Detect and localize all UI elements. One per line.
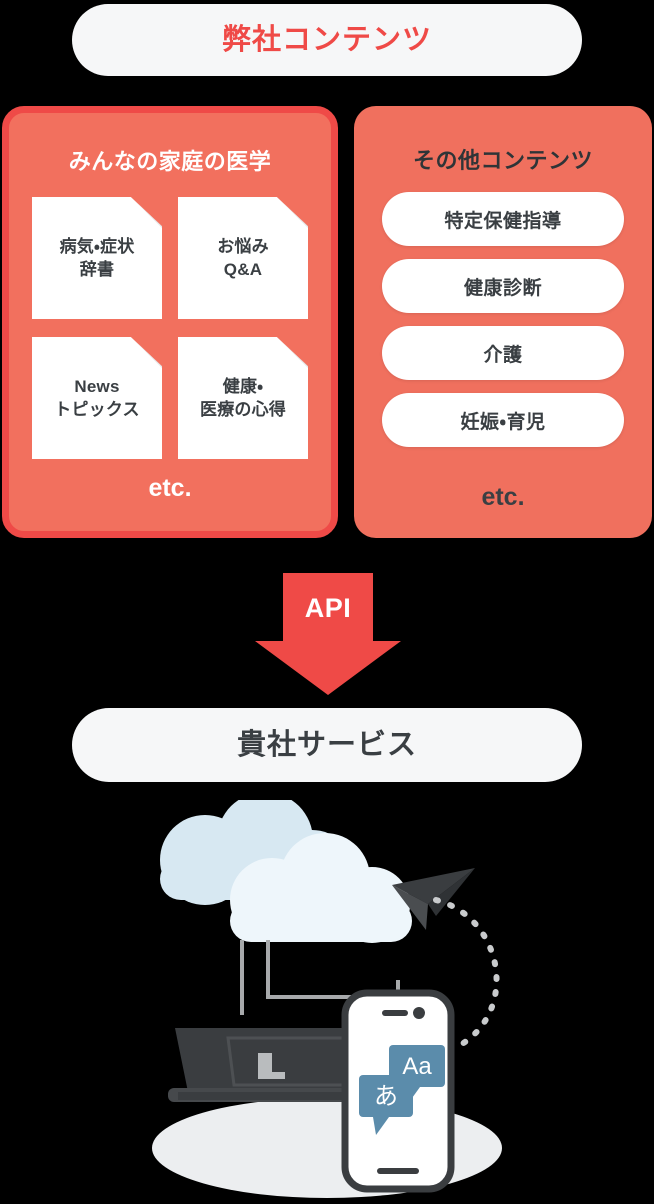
page-fold-icon: [277, 197, 308, 228]
document-card-line2: トピックス: [54, 398, 140, 421]
panel-own-medical-content: みんなの家庭の医学 病気・症状 辞書 お悩み Q&A News トピックス 健康…: [2, 106, 338, 538]
header-title-pill: 弊社コンテンツ: [72, 4, 582, 76]
phone-icon: Aa あ: [345, 993, 451, 1189]
illustration-scene: Aa あ: [0, 800, 654, 1204]
phone-camera: [413, 1007, 425, 1019]
panel-other-content: その他コンテンツ 特定保健指導 健康診断 介護 妊娠・育児 etc.: [354, 106, 652, 538]
panel-left-etc-label: etc.: [9, 476, 331, 501]
document-card[interactable]: 健康・ 医療の心得: [178, 337, 308, 459]
list-item[interactable]: 健康診断: [382, 259, 624, 313]
phone-home-indicator: [377, 1168, 419, 1174]
diagram-canvas: 弊社コンテンツ みんなの家庭の医学 病気・症状 辞書 お悩み Q&A News …: [0, 0, 654, 1204]
panel-left-heading: みんなの家庭の医学: [9, 151, 331, 173]
document-card[interactable]: 病気・症状 辞書: [32, 197, 162, 319]
api-arrow: API: [255, 573, 401, 695]
list-item[interactable]: 介護: [382, 326, 624, 380]
document-card-line2: 医療の心得: [200, 398, 286, 421]
service-title-pill: 貴社サービス: [72, 708, 582, 782]
page-fold-icon: [131, 337, 162, 368]
api-label: API: [255, 595, 401, 622]
document-card[interactable]: お悩み Q&A: [178, 197, 308, 319]
document-card-line1: News: [74, 375, 119, 398]
document-card-line1: 健康・: [223, 375, 263, 398]
page-title: 弊社コンテンツ: [222, 26, 432, 55]
page-fold-icon: [277, 337, 308, 368]
list-item[interactable]: 妊娠・育児: [382, 393, 624, 447]
document-card-line1: 病気・症状: [60, 235, 135, 258]
list-item[interactable]: 特定保健指導: [382, 192, 624, 246]
document-card-grid: 病気・症状 辞書 お悩み Q&A News トピックス 健康・ 医療の心得: [32, 197, 308, 459]
bubble-japanese-text: あ: [374, 1083, 398, 1110]
page-fold-icon: [131, 197, 162, 228]
document-card-line2: Q&A: [224, 258, 262, 281]
document-card[interactable]: News トピックス: [32, 337, 162, 459]
document-card-line2: 辞書: [80, 258, 114, 281]
panel-right-etc-label: etc.: [354, 485, 652, 510]
other-content-list: 特定保健指導 健康診断 介護 妊娠・育児: [382, 192, 624, 447]
document-card-line1: お悩み: [217, 235, 269, 258]
service-title: 貴社サービス: [237, 731, 417, 760]
phone-speaker: [382, 1010, 408, 1016]
down-arrow-icon: [255, 573, 401, 695]
panel-right-heading: その他コンテンツ: [354, 150, 652, 172]
